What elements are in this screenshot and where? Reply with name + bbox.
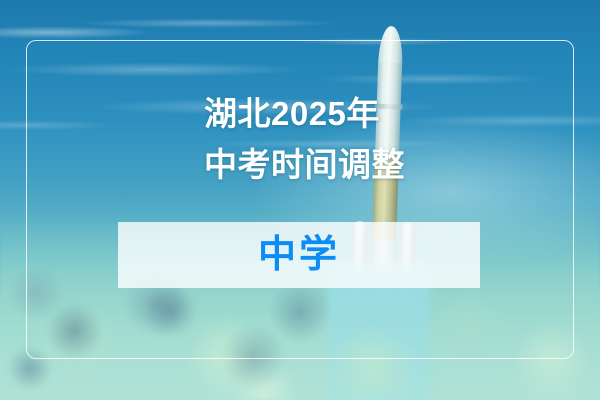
category-bar: 中学	[118, 222, 480, 288]
banner-image: 湖北2025年 中考时间调整 中学	[0, 0, 600, 400]
page-title: 湖北2025年 中考时间调整	[204, 88, 544, 190]
category-label: 中学	[258, 236, 340, 274]
background-photo	[0, 0, 600, 400]
headline-line-1: 湖北2025年	[204, 88, 544, 139]
rocket-nose-cone	[378, 26, 403, 67]
headline-line-2: 中考时间调整	[204, 139, 544, 190]
